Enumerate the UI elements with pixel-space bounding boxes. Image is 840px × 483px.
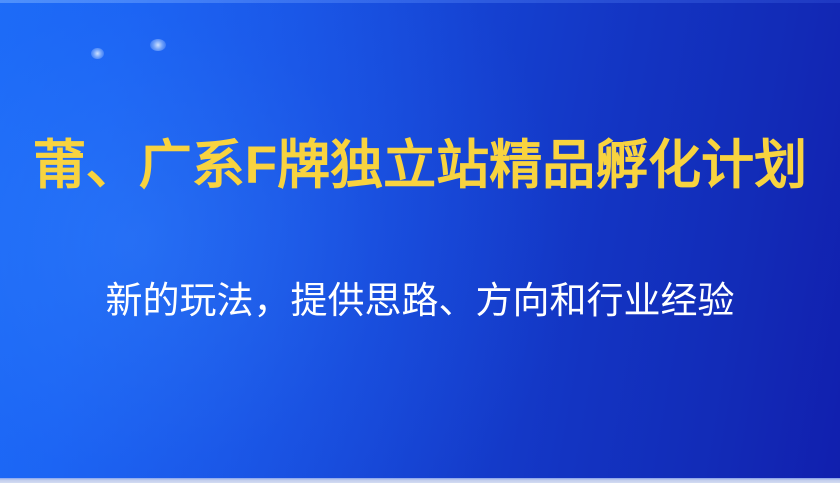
banner-subheadline: 新的玩法，提供思路、方向和行业经验 xyxy=(0,276,840,326)
bottom-edge-strip xyxy=(0,478,840,483)
sparkle-dot-icon-2 xyxy=(150,39,166,51)
top-edge-highlight xyxy=(0,0,840,3)
sparkle-dot-icon-1 xyxy=(91,48,104,59)
promo-banner: 莆、广系F牌独立站精品孵化计划 新的玩法，提供思路、方向和行业经验 xyxy=(0,0,840,483)
banner-headline: 莆、广系F牌独立站精品孵化计划 xyxy=(0,134,840,198)
